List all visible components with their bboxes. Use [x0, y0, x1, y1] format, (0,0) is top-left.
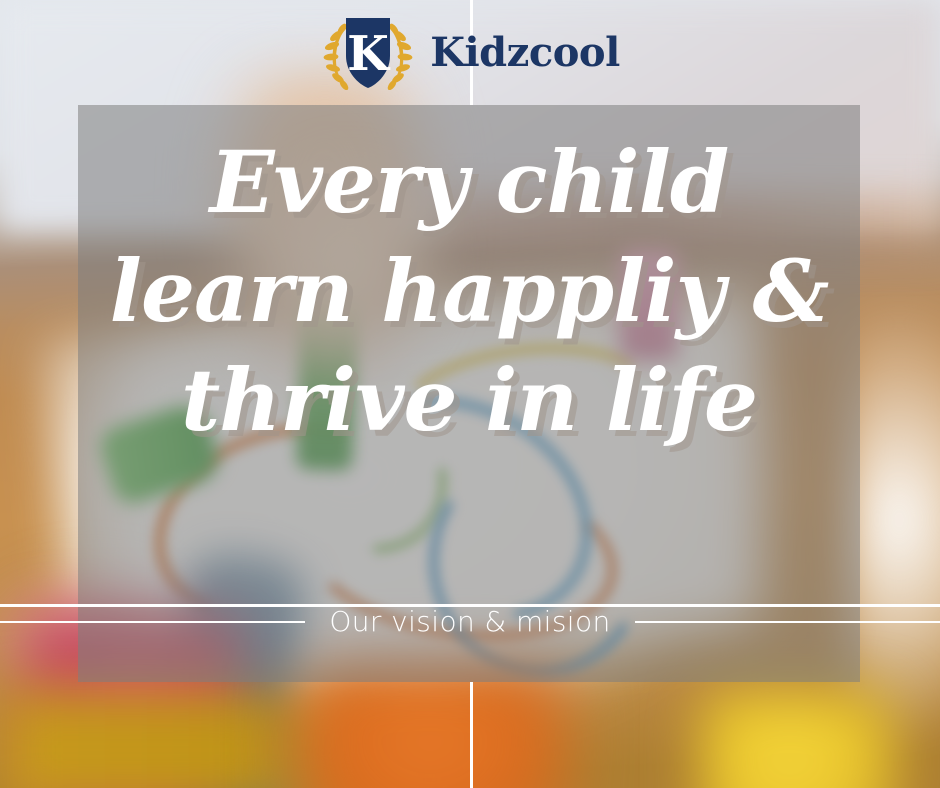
svg-text:K: K: [347, 26, 391, 82]
subtitle-text: Our vision & mision: [305, 605, 634, 638]
poster-canvas: K Kidzcool Every child learn happliy & t…: [0, 0, 940, 788]
shield-laurel-k-icon: K: [320, 16, 416, 90]
brand-logo[interactable]: K Kidzcool: [0, 0, 940, 105]
vertical-rule-bottom: [470, 682, 473, 788]
subtitle-rule-right: [635, 621, 940, 623]
brand-wordmark: Kidzcool: [430, 33, 620, 73]
headline-line-2: learn happliy &: [78, 226, 860, 335]
poster-content: Every child learn happliy & thrive in li…: [78, 105, 860, 682]
subtitle-rule-left: [0, 621, 305, 623]
page-title: Every child learn happliy & thrive in li…: [78, 105, 860, 444]
headline-line-1: Every child: [78, 105, 860, 226]
photo-foreground-yellow-crayon: [700, 690, 900, 788]
headline-line-3: thrive in life: [78, 335, 860, 444]
subtitle-row: Our vision & mision: [0, 605, 940, 638]
